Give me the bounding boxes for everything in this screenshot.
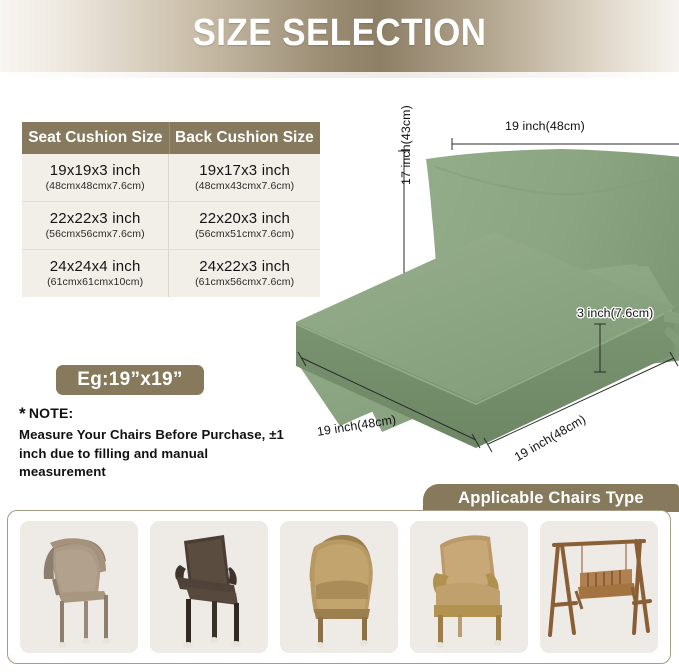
seat-size-inch: 19x19x3 inch [26, 162, 164, 179]
wooden-a-frame-porch-swing-icon [540, 521, 658, 653]
dimension-label-back-width: 19 inch(48cm) [505, 119, 585, 133]
column-header-seat-cushion-size: Seat Cushion Size [22, 122, 169, 154]
seat-size-cm: (56cmx56cmx7.6cm) [26, 228, 164, 240]
seat-size-inch: 22x22x3 inch [26, 210, 164, 227]
taupe-wicker-bistro-chair-icon [20, 521, 138, 653]
dimension-label-thickness: 3 inch(7.6cm) [577, 306, 653, 320]
dimension-line-back-width [452, 138, 679, 150]
banner-underline [0, 72, 679, 78]
tan-wicker-barrel-chair-icon [280, 521, 398, 653]
seat-size-inch: 24x24x4 inch [26, 258, 164, 275]
example-size-badge: Eg:19”x19” [56, 365, 204, 395]
note-heading-label: NOTE: [29, 405, 74, 421]
example-size-label: Eg:19”x19” [77, 369, 182, 391]
chair-tile-tan-wicker-barrel-chair [280, 521, 398, 653]
seat-size-cm: (48cmx48cmx7.6cm) [26, 180, 164, 192]
note-heading: *NOTE: [19, 404, 289, 424]
cell-seat-size: 19x19x3 inch (48cmx48cmx7.6cm) [22, 154, 169, 202]
chair-tile-wooden-a-frame-porch-swing [540, 521, 658, 653]
dimension-label-back-height: 17 inch(43cm) [399, 105, 413, 185]
page-header-banner: SIZE SELECTION [0, 0, 679, 72]
natural-woven-lounge-armchair-icon [410, 521, 528, 653]
chair-tile-taupe-wicker-bistro-chair [20, 521, 138, 653]
applicable-chairs-tab: Applicable Chairs Type [423, 484, 679, 512]
dark-brown-wicker-armchair-icon [150, 521, 268, 653]
note-body: Measure Your Chairs Before Purchase, ±1 … [19, 426, 289, 482]
note-block: *NOTE: Measure Your Chairs Before Purcha… [19, 404, 289, 482]
seat-size-cm: (61cmx61cmx10cm) [26, 276, 164, 288]
chair-tile-natural-woven-lounge-armchair [410, 521, 528, 653]
page-title: SIZE SELECTION [27, 12, 652, 55]
cell-seat-size: 24x24x4 inch (61cmx61cmx10cm) [22, 250, 169, 298]
chair-tile-dark-brown-wicker-armchair [150, 521, 268, 653]
seat-cushion-shape [296, 232, 679, 472]
asterisk-icon: * [19, 404, 26, 423]
cell-seat-size: 22x22x3 inch (56cmx56cmx7.6cm) [22, 202, 169, 250]
applicable-chairs-panel [7, 510, 671, 664]
applicable-chairs-label: Applicable Chairs Type [458, 489, 644, 508]
